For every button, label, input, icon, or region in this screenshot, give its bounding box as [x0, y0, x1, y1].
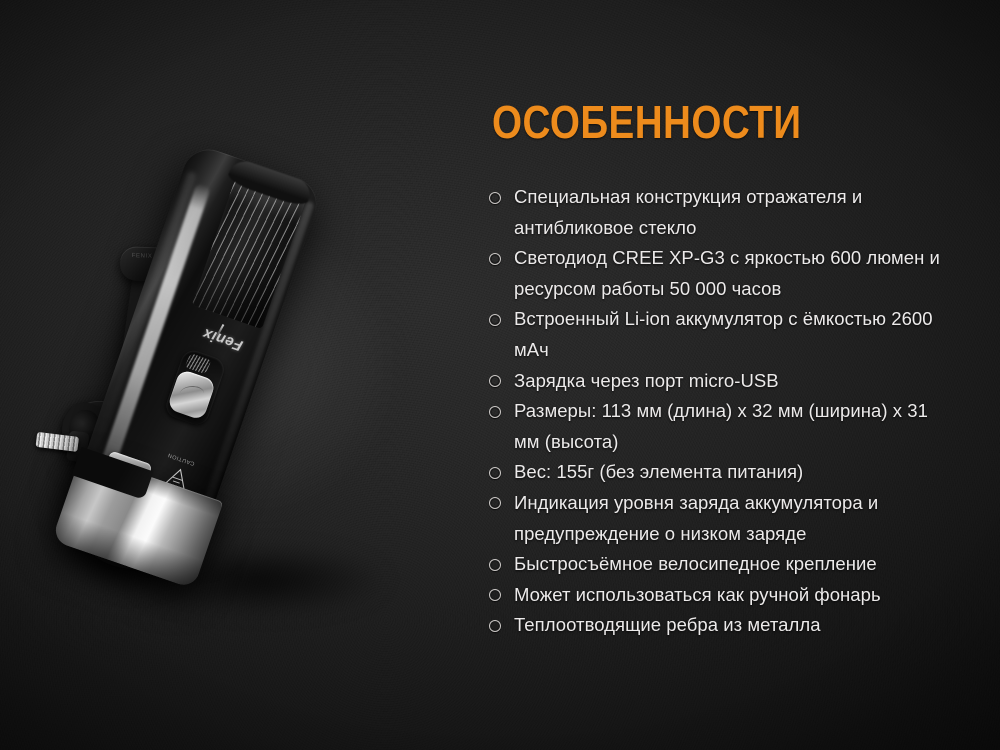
mount-lever-label: FENIX	[132, 253, 153, 260]
list-item: Быстросъёмное велосипедное крепление	[487, 549, 957, 580]
list-item: Теплоотводящие ребра из металла	[487, 610, 957, 641]
product-photo: FENIX Fenix CAUTION	[40, 140, 490, 620]
ring-bullet-icon	[489, 192, 501, 204]
list-item: Вес: 155г (без элемента питания)	[487, 457, 957, 488]
ring-bullet-icon	[489, 497, 501, 509]
ring-bullet-icon	[489, 467, 501, 479]
ring-bullet-icon	[489, 620, 501, 632]
list-item-label: Быстросъёмное велосипедное крепление	[514, 553, 877, 574]
product-feature-slide: FENIX Fenix CAUTION	[0, 0, 1000, 750]
list-item: Встроенный Li-ion аккумулятор с ёмкостью…	[487, 304, 957, 365]
list-item-label: Встроенный Li-ion аккумулятор с ёмкостью…	[514, 308, 933, 360]
list-item-label: Индикация уровня заряда аккумулятора и п…	[514, 492, 878, 544]
ring-bullet-icon	[489, 589, 501, 601]
list-item-label: Вес: 155г (без элемента питания)	[514, 461, 803, 482]
feature-list: Специальная конструкция отражателя и ант…	[487, 182, 957, 641]
list-item-label: Зарядка через порт micro-USB	[514, 370, 779, 391]
page-title: ОСОБЕННОСТИ	[492, 96, 883, 148]
list-item: Специальная конструкция отражателя и ант…	[487, 182, 957, 243]
ring-bullet-icon	[489, 406, 501, 418]
ring-bullet-icon	[489, 314, 501, 326]
list-item-label: Может использоваться как ручной фонарь	[514, 584, 881, 605]
list-item-label: Размеры: 113 мм (длина) x 32 мм (ширина)…	[514, 400, 928, 452]
ring-bullet-icon	[489, 253, 501, 265]
list-item-label: Теплоотводящие ребра из металла	[514, 614, 821, 635]
list-item-label: Специальная конструкция отражателя и ант…	[514, 186, 862, 238]
list-item-label: Светодиод CREE XP-G3 с яркостью 600 люме…	[514, 247, 940, 299]
list-item: Может использоваться как ручной фонарь	[487, 580, 957, 611]
list-item: Зарядка через порт micro-USB	[487, 366, 957, 397]
ring-bullet-icon	[489, 559, 501, 571]
list-item: Размеры: 113 мм (длина) x 32 мм (ширина)…	[487, 396, 957, 457]
ring-bullet-icon	[489, 375, 501, 387]
list-item: Светодиод CREE XP-G3 с яркостью 600 люме…	[487, 243, 957, 304]
features-panel: ОСОБЕННОСТИ Специальная конструкция отра…	[487, 96, 957, 641]
list-item: Индикация уровня заряда аккумулятора и п…	[487, 488, 957, 549]
